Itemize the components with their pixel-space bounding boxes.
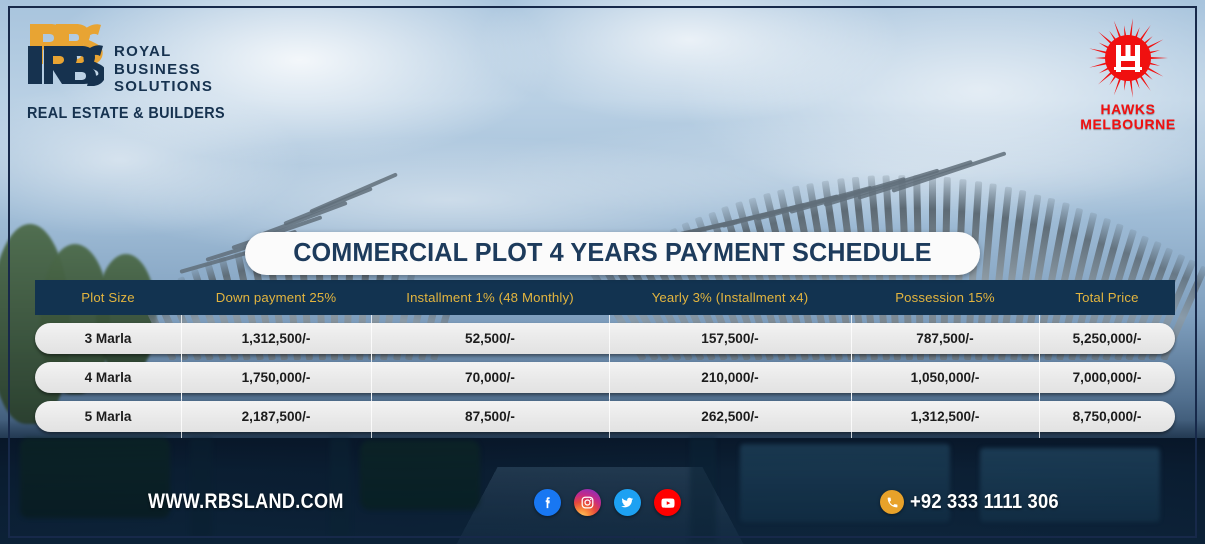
column-divider: [371, 393, 372, 438]
rbs-tagline: REAL ESTATE & BUILDERS: [27, 105, 225, 123]
footer-bar: WWW.RBSLAND.COM +92: [0, 478, 1205, 538]
column-divider: [851, 393, 852, 438]
payment-schedule-table: Plot SizeDown payment 25%Installment 1% …: [35, 280, 1175, 432]
table-cell: 87,500/-: [371, 409, 609, 424]
rbs-name-block: ROYAL BUSINESS SOLUTIONS: [114, 43, 213, 96]
instagram-icon[interactable]: [574, 489, 601, 516]
table-column-header: Down payment 25%: [181, 290, 371, 305]
phone-contact[interactable]: +92 333 1111 306: [880, 490, 1072, 514]
table-column-header: Total Price: [1039, 290, 1175, 305]
page-title-text: COMMERCIAL PLOT 4 YEARS PAYMENT SCHEDULE: [293, 239, 931, 268]
table-column-header: Installment 1% (48 Monthly): [371, 290, 609, 305]
youtube-icon[interactable]: [654, 489, 681, 516]
twitter-icon[interactable]: [614, 489, 641, 516]
table-cell: 787,500/-: [851, 331, 1039, 346]
table-cell: 70,000/-: [371, 370, 609, 385]
hawks-melbourne-logo: HAWKS MELBOURNE: [1069, 18, 1187, 136]
table-cell: 5 Marla: [35, 409, 181, 424]
rbs-logo: ROYAL BUSINESS SOLUTIONS REAL ESTATE & B…: [26, 20, 236, 115]
rbs-name-line-3: SOLUTIONS: [114, 78, 213, 96]
page-title: COMMERCIAL PLOT 4 YEARS PAYMENT SCHEDULE: [245, 232, 980, 275]
table-cell: 1,750,000/-: [181, 370, 371, 385]
poster-canvas: ROYAL BUSINESS SOLUTIONS REAL ESTATE & B…: [0, 0, 1205, 544]
table-cell: 4 Marla: [35, 370, 181, 385]
table-row[interactable]: 4 Marla1,750,000/-70,000/-210,000/-1,050…: [35, 362, 1175, 393]
table-row[interactable]: 3 Marla1,312,500/-52,500/-157,500/-787,5…: [35, 323, 1175, 354]
website-url[interactable]: WWW.RBSLAND.COM: [148, 490, 344, 514]
table-row[interactable]: 5 Marla2,187,500/-87,500/-262,500/-1,312…: [35, 401, 1175, 432]
rbs-monogram-icon: [26, 20, 104, 86]
table-column-header: Plot Size: [35, 290, 181, 305]
social-links: [534, 489, 681, 516]
table-cell: 1,312,500/-: [181, 331, 371, 346]
table-cell: 3 Marla: [35, 331, 181, 346]
phone-icon: [880, 490, 904, 514]
table-cell: 7,000,000/-: [1039, 370, 1175, 385]
phone-number: +92 333 1111 306: [910, 491, 1059, 514]
table-cell: 1,050,000/-: [851, 370, 1039, 385]
table-cell: 210,000/-: [609, 370, 851, 385]
table-cell: 52,500/-: [371, 331, 609, 346]
hawks-name-line-2: MELBOURNE: [1069, 117, 1187, 132]
hawks-name-line-1: HAWKS: [1069, 102, 1187, 117]
rbs-name-line-2: BUSINESS: [114, 61, 213, 79]
facebook-icon[interactable]: [534, 489, 561, 516]
table-column-header: Yearly 3% (Installment x4): [609, 290, 851, 305]
table-cell: 8,750,000/-: [1039, 409, 1175, 424]
arch-beam: [309, 172, 398, 214]
table-header-row: Plot SizeDown payment 25%Installment 1% …: [35, 280, 1175, 315]
rbs-name-line-1: ROYAL: [114, 43, 213, 61]
table-cell: 157,500/-: [609, 331, 851, 346]
table-column-header: Possession 15%: [851, 290, 1039, 305]
hawks-sunburst-icon: [1086, 18, 1170, 100]
table-cell: 5,250,000/-: [1039, 331, 1175, 346]
table-cell: 2,187,500/-: [181, 409, 371, 424]
column-divider: [609, 393, 610, 438]
table-body: 3 Marla1,312,500/-52,500/-157,500/-787,5…: [35, 323, 1175, 432]
column-divider: [181, 393, 182, 438]
column-divider: [1039, 393, 1040, 438]
table-cell: 262,500/-: [609, 409, 851, 424]
table-cell: 1,312,500/-: [851, 409, 1039, 424]
